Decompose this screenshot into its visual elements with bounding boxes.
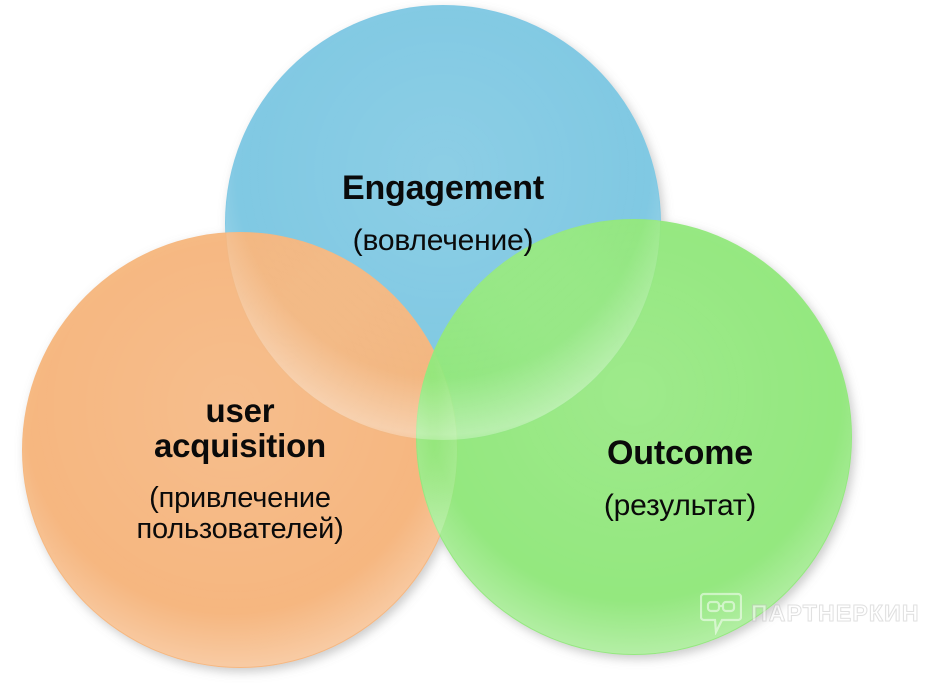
venn-diagram: Engagement (вовлечение) user acquisition… xyxy=(0,0,951,686)
venn-circles-graphic xyxy=(0,0,951,686)
circle-user-acquisition-gloss xyxy=(23,233,457,667)
circle-outcome-gloss xyxy=(417,220,851,654)
